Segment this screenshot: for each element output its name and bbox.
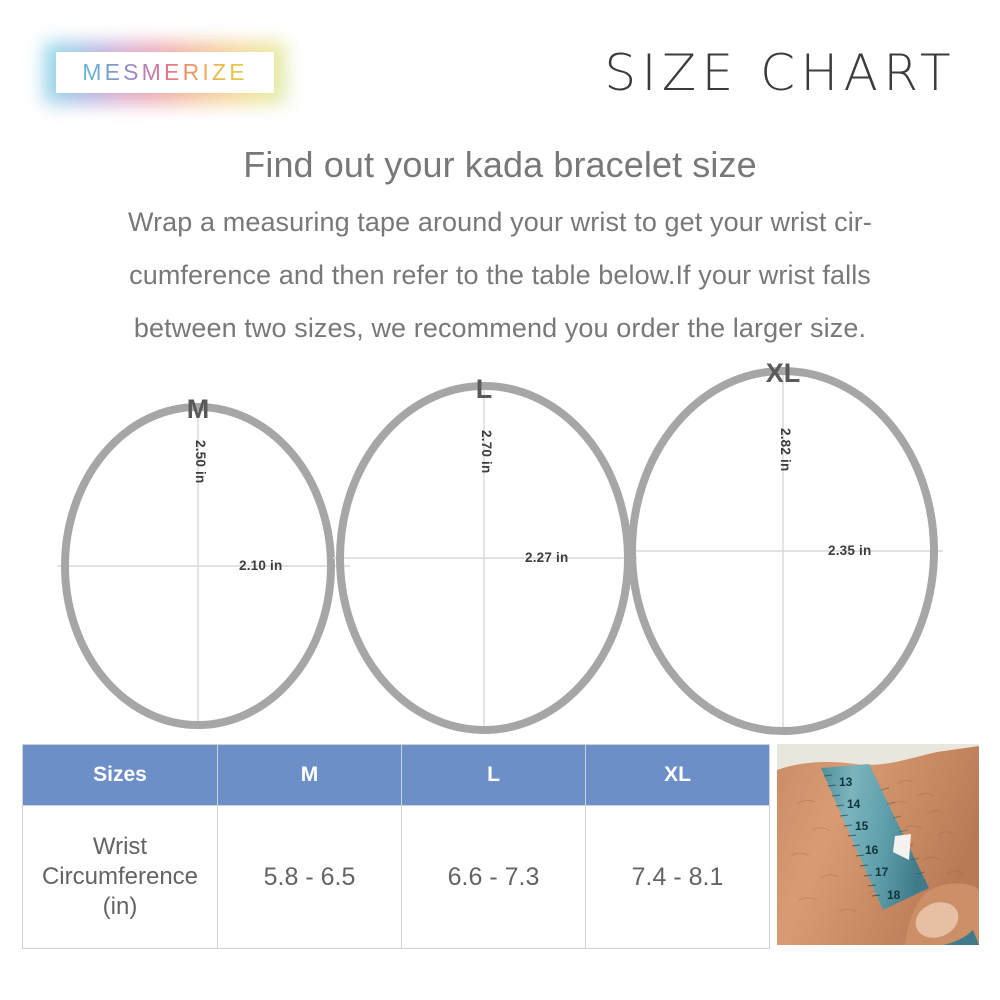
table-header-m: M bbox=[218, 745, 402, 806]
logo-plate: MESMERIZE bbox=[56, 52, 274, 93]
cell-wrist-circumference-m: 5.8 - 6.5 bbox=[218, 806, 402, 949]
row-label-wrist-circumference: Wrist Circumference (in) bbox=[23, 806, 218, 949]
brand-logo: MESMERIZE bbox=[44, 42, 286, 104]
oval-height-label-l: 2.70 in bbox=[479, 430, 494, 473]
cell-wrist-circumference-xl: 7.4 - 8.1 bbox=[586, 806, 770, 949]
oval-size-label-l: L bbox=[476, 374, 493, 405]
intro-paragraph: Wrap a measuring tape around your wrist … bbox=[0, 196, 1000, 355]
oval-width-label-l: 2.27 in bbox=[525, 550, 568, 565]
oval-width-label-xl: 2.35 in bbox=[828, 543, 871, 558]
table-row: Wrist Circumference (in) 5.8 - 6.5 6.6 -… bbox=[23, 806, 770, 949]
wrist-photo-illustration: 13 14 15 16 17 18 bbox=[777, 744, 979, 945]
table-header-xl: XL bbox=[586, 745, 770, 806]
row-label-line: (in) bbox=[24, 892, 216, 922]
intro-block: Find out your kada bracelet size Wrap a … bbox=[0, 142, 1000, 355]
page-title: SIZE CHART bbox=[604, 44, 956, 102]
logo-wordmark: MESMERIZE bbox=[82, 59, 248, 86]
tape-number: 14 bbox=[847, 797, 861, 811]
table-header-sizes: Sizes bbox=[23, 745, 218, 806]
oval-height-label-m: 2.50 in bbox=[193, 440, 208, 483]
table-header-row: Sizes M L XL bbox=[23, 745, 770, 806]
intro-heading: Find out your kada bracelet size bbox=[0, 142, 1000, 188]
tape-number: 17 bbox=[875, 865, 889, 879]
oval-width-label-m: 2.10 in bbox=[239, 558, 282, 573]
row-label-line: Wrist bbox=[24, 832, 216, 862]
intro-line: cumference and then refer to the table b… bbox=[0, 249, 1000, 302]
tape-number: 16 bbox=[865, 843, 879, 857]
oval-height-label-xl: 2.82 in bbox=[778, 428, 793, 471]
oval-size-label-xl: XL bbox=[766, 358, 801, 389]
row-label-line: Circumference bbox=[24, 862, 216, 892]
tape-number: 18 bbox=[887, 888, 901, 902]
oval-size-label-m: M bbox=[187, 394, 210, 425]
cell-wrist-circumference-l: 6.6 - 7.3 bbox=[402, 806, 586, 949]
tape-number: 13 bbox=[839, 775, 853, 789]
wrist-measurement-photo: 13 14 15 16 17 18 bbox=[777, 744, 979, 945]
table-header-l: L bbox=[402, 745, 586, 806]
size-table: Sizes M L XL Wrist Circumference (in) 5.… bbox=[22, 744, 770, 949]
tape-number: 15 bbox=[855, 819, 869, 833]
intro-line: Wrap a measuring tape around your wrist … bbox=[0, 196, 1000, 249]
